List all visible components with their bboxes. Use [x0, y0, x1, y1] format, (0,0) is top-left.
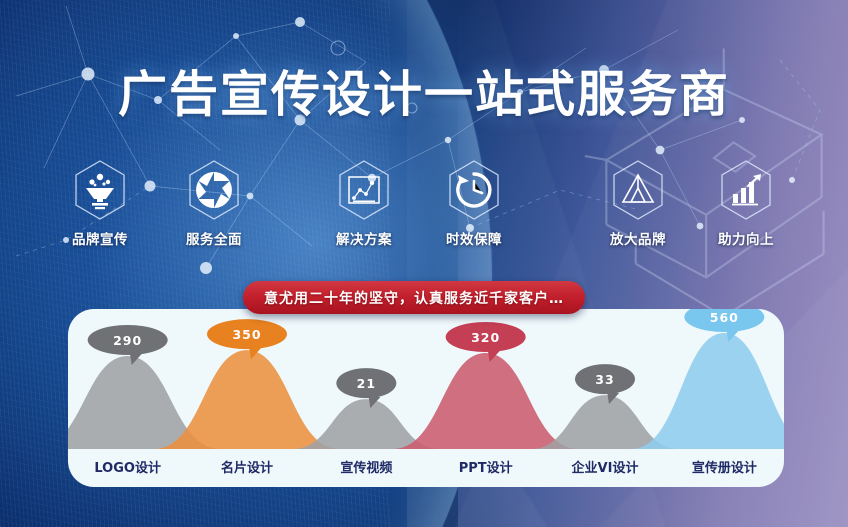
axis-label-2: 宣传视频: [340, 457, 392, 476]
clock-rotate-icon: [444, 158, 504, 222]
svg-text:33: 33: [595, 372, 614, 387]
page-title: 广告宣传设计一站式服务商: [0, 55, 848, 126]
feature-item-full-service[interactable]: 服务全面: [166, 158, 262, 248]
triangle-pyramid-icon: [608, 158, 668, 222]
axis-label-4: 企业VI设计: [572, 457, 639, 476]
feature-label: 服务全面: [166, 228, 262, 248]
value-bubble: 320: [446, 322, 526, 362]
axis-label-5: 宣传册设计: [692, 457, 757, 476]
feature-icon-row: 品牌宣传 服务全面: [0, 158, 848, 250]
feature-item-brand-promotion[interactable]: 品牌宣传: [52, 158, 148, 248]
svg-text:350: 350: [232, 327, 261, 342]
highlight-banner-text: 意尤用二十年的坚守，认真服务近千家客户…: [264, 288, 564, 308]
value-bubble: 21: [336, 368, 396, 408]
highlight-banner: 意尤用二十年的坚守，认真服务近千家客户…: [243, 281, 585, 314]
chart-category-labels: LOGO设计名片设计宣传视频PPT设计企业VI设计宣传册设计: [68, 449, 784, 487]
feature-label: 放大品牌: [590, 228, 686, 248]
feature-label: 解决方案: [316, 228, 412, 248]
feature-item-timeliness[interactable]: 时效保障: [426, 158, 522, 248]
value-bubble: 33: [575, 364, 635, 404]
aperture-icon: [184, 158, 244, 222]
value-bubble: 350: [207, 319, 287, 359]
svg-text:290: 290: [113, 333, 142, 348]
value-bubble: 560: [684, 309, 764, 342]
svg-text:320: 320: [471, 330, 500, 345]
promo-banner-root: 广告宣传设计一站式服务商 品牌宣传: [0, 0, 848, 527]
chart-card: 2903502132033560 LOGO设计名片设计宣传视频PPT设计企业VI…: [68, 309, 784, 487]
axis-label-3: PPT设计: [459, 457, 513, 476]
svg-text:21: 21: [357, 376, 376, 391]
feature-item-growth-support[interactable]: 助力向上: [698, 158, 794, 248]
feature-item-amplify-brand[interactable]: 放大品牌: [590, 158, 686, 248]
axis-label-1: 名片设计: [221, 457, 273, 476]
value-bubble: 290: [88, 325, 168, 365]
feature-label: 时效保障: [426, 228, 522, 248]
feature-label: 助力向上: [698, 228, 794, 248]
feature-item-solutions[interactable]: 解决方案: [316, 158, 412, 248]
analytics-chart-icon: [334, 158, 394, 222]
feature-label: 品牌宣传: [52, 228, 148, 248]
chart-value-bubbles: 2903502132033560: [68, 309, 784, 449]
axis-label-0: LOGO设计: [94, 457, 161, 476]
megaphone-icon: [70, 158, 130, 222]
bar-growth-icon: [716, 158, 776, 222]
svg-text:560: 560: [710, 310, 739, 325]
